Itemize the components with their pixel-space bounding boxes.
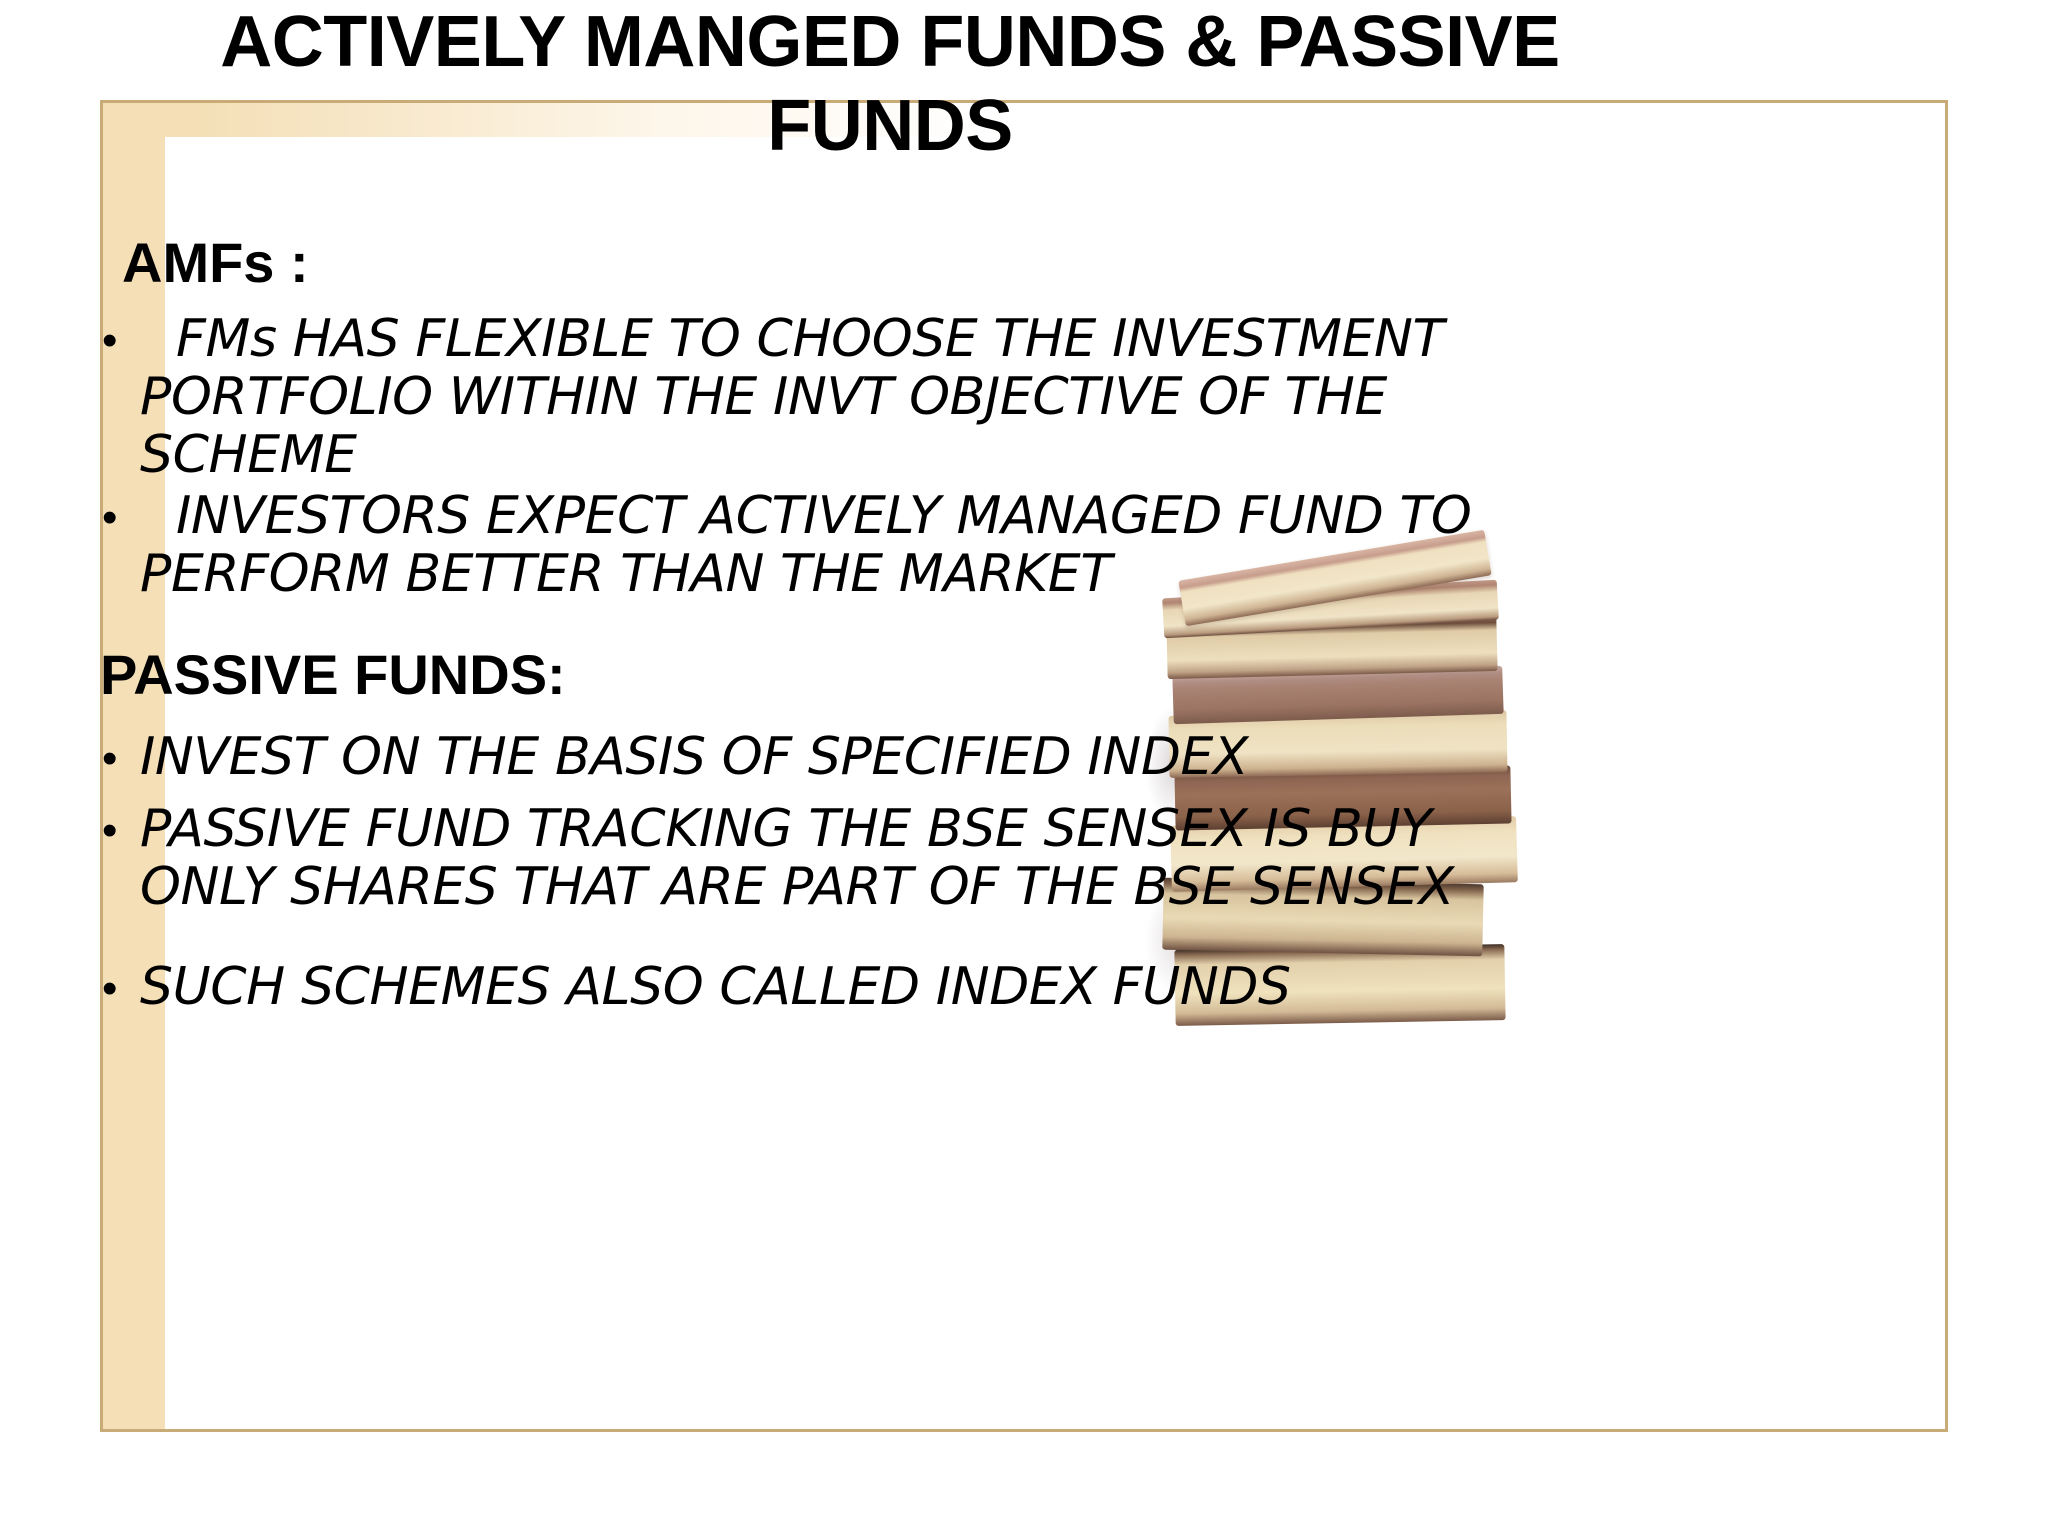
section-heading-passive-funds: PASSIVE FUNDS: xyxy=(100,645,566,705)
slide-title: ACTIVELY MANGED FUNDS & PASSIVE FUNDS xyxy=(110,0,1670,168)
list-item-text: INVESTORS EXPECT ACTIVELY MANAGED FUND T… xyxy=(140,487,1532,603)
list-item-text: PASSIVE FUND TRACKING THE BSE SENSEX IS … xyxy=(140,800,1502,916)
list-item-text: FMs HAS FLEXIBLE TO CHOOSE THE INVESTMEN… xyxy=(140,310,1502,484)
bullet-icon: • xyxy=(102,310,140,372)
bullet-icon: • xyxy=(102,800,140,862)
list-item: • SUCH SCHEMES ALSO CALLED INDEX FUNDS xyxy=(102,958,1502,1020)
list-item: • FMs HAS FLEXIBLE TO CHOOSE THE INVESTM… xyxy=(102,310,1502,484)
list-item: • INVESTORS EXPECT ACTIVELY MANAGED FUND… xyxy=(102,487,1532,603)
bullet-icon: • xyxy=(102,728,140,790)
list-item: • INVEST ON THE BASIS OF SPECIFIED INDEX xyxy=(102,728,1532,790)
section-heading-amfs: AMFs : xyxy=(122,233,309,293)
slide-body: ACTIVELY MANGED FUNDS & PASSIVE FUNDS AM… xyxy=(0,0,2048,1536)
list-item-text: SUCH SCHEMES ALSO CALLED INDEX FUNDS xyxy=(140,958,1291,1016)
bullet-icon: • xyxy=(102,487,140,549)
bullet-icon: • xyxy=(102,958,140,1020)
slide: ACTIVELY MANGED FUNDS & PASSIVE FUNDS AM… xyxy=(0,0,2048,1536)
list-item: • PASSIVE FUND TRACKING THE BSE SENSEX I… xyxy=(102,800,1502,916)
list-item-text: INVEST ON THE BASIS OF SPECIFIED INDEX xyxy=(140,728,1248,786)
